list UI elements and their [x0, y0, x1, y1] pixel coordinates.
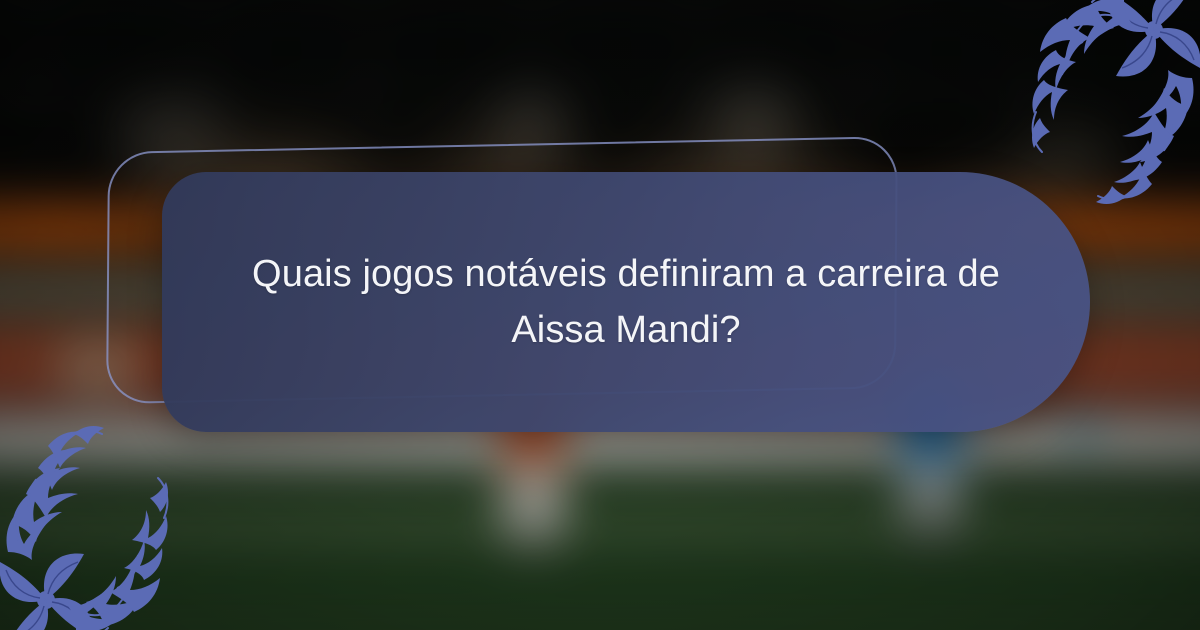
question-text: Quais jogos notáveis definiram a carreir… — [232, 246, 1020, 358]
question-card-banner: Quais jogos notáveis definiram a carreir… — [0, 0, 1200, 630]
question-card: Quais jogos notáveis definiram a carreir… — [162, 172, 1090, 432]
background-ball-blob — [1062, 412, 1102, 446]
